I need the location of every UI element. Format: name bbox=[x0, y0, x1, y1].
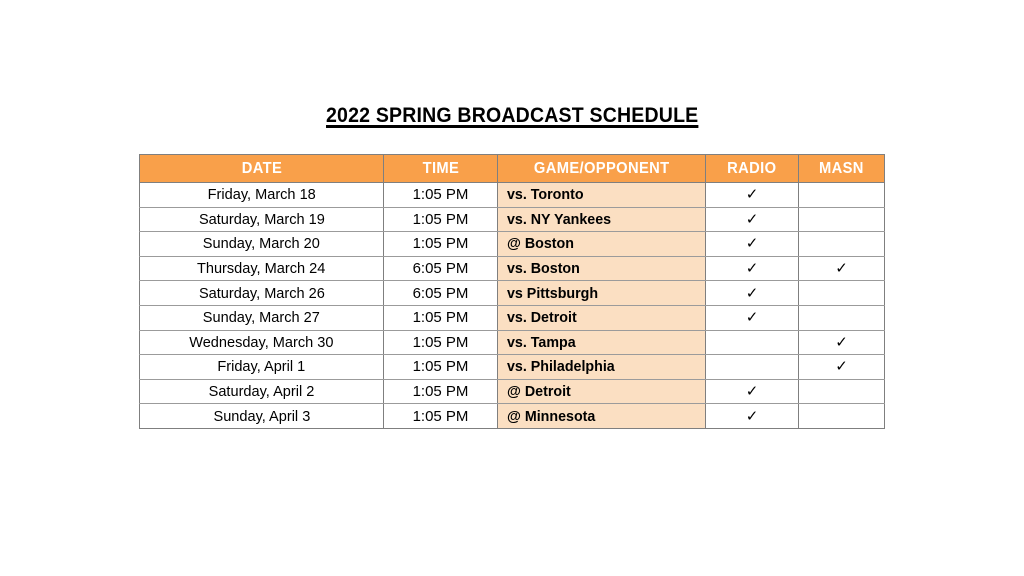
cell-masn bbox=[799, 281, 885, 306]
cell-date: Sunday, March 20 bbox=[140, 232, 384, 257]
check-icon-radio: ✓ bbox=[746, 185, 759, 203]
broadcast-schedule-table: DATE TIME GAME/OPPONENT RADIO MASN Frida… bbox=[139, 154, 885, 429]
table-row: Saturday, April 21:05 PM@ Detroit✓ bbox=[140, 379, 885, 404]
column-header-game-opponent: GAME/OPPONENT bbox=[498, 155, 706, 183]
cell-radio: ✓ bbox=[706, 256, 799, 281]
table-header: DATE TIME GAME/OPPONENT RADIO MASN bbox=[140, 155, 885, 183]
cell-date: Friday, March 18 bbox=[140, 183, 384, 208]
cell-game-opponent: vs. Tampa bbox=[498, 330, 706, 355]
cell-radio: ✓ bbox=[706, 183, 799, 208]
cell-time: 1:05 PM bbox=[384, 379, 498, 404]
table-row: Thursday, March 246:05 PMvs. Boston✓✓ bbox=[140, 256, 885, 281]
cell-radio: ✓ bbox=[706, 207, 799, 232]
cell-date: Sunday, March 27 bbox=[140, 305, 384, 330]
column-header-game-opponent-label: GAME/OPPONENT bbox=[534, 155, 670, 182]
table-row: Sunday, March 201:05 PM@ Boston✓ bbox=[140, 232, 885, 257]
cell-time: 1:05 PM bbox=[384, 232, 498, 257]
check-icon-radio: ✓ bbox=[746, 210, 759, 228]
cell-time: 1:05 PM bbox=[384, 355, 498, 380]
cell-time-text: 1:05 PM bbox=[413, 358, 469, 375]
title-container: 2022 SPRING BROADCAST SCHEDULE bbox=[0, 104, 1024, 128]
cell-game-opponent: @ Boston bbox=[498, 232, 706, 257]
cell-radio: ✓ bbox=[706, 305, 799, 330]
table-row: Friday, March 181:05 PMvs. Toronto✓ bbox=[140, 183, 885, 208]
table-row: Sunday, April 31:05 PM@ Minnesota✓ bbox=[140, 404, 885, 429]
cell-game-opponent-text: vs. NY Yankees bbox=[507, 211, 611, 228]
cell-game-opponent: vs. Boston bbox=[498, 256, 706, 281]
column-header-date-label: DATE bbox=[241, 155, 281, 182]
cell-time-text: 1:05 PM bbox=[413, 334, 469, 351]
cell-game-opponent: @ Minnesota bbox=[498, 404, 706, 429]
cell-game-opponent: vs. Detroit bbox=[498, 305, 706, 330]
cell-time-text: 6:05 PM bbox=[413, 285, 469, 302]
cell-time: 1:05 PM bbox=[384, 207, 498, 232]
cell-radio bbox=[706, 355, 799, 380]
cell-date: Friday, April 1 bbox=[140, 355, 384, 380]
check-icon-radio: ✓ bbox=[746, 407, 759, 425]
column-header-date: DATE bbox=[140, 155, 384, 183]
cell-date-text: Saturday, March 19 bbox=[199, 211, 325, 228]
cell-masn: ✓ bbox=[799, 256, 885, 281]
cell-date: Saturday, March 26 bbox=[140, 281, 384, 306]
cell-game-opponent-text: vs. Tampa bbox=[507, 334, 576, 351]
cell-masn bbox=[799, 232, 885, 257]
table-row: Saturday, March 191:05 PMvs. NY Yankees✓ bbox=[140, 207, 885, 232]
cell-game-opponent: vs Pittsburgh bbox=[498, 281, 706, 306]
table-row: Friday, April 11:05 PMvs. Philadelphia✓ bbox=[140, 355, 885, 380]
cell-time-text: 1:05 PM bbox=[413, 408, 469, 425]
cell-date: Thursday, March 24 bbox=[140, 256, 384, 281]
cell-game-opponent-text: vs. Toronto bbox=[507, 186, 584, 203]
table-row: Sunday, March 271:05 PMvs. Detroit✓ bbox=[140, 305, 885, 330]
cell-time-text: 6:05 PM bbox=[413, 260, 469, 277]
check-icon-radio: ✓ bbox=[746, 382, 759, 400]
cell-game-opponent-text: vs Pittsburgh bbox=[507, 285, 598, 302]
cell-date-text: Saturday, April 2 bbox=[209, 383, 315, 400]
table-row: Saturday, March 266:05 PMvs Pittsburgh✓ bbox=[140, 281, 885, 306]
cell-date-text: Thursday, March 24 bbox=[197, 260, 325, 277]
cell-game-opponent-text: @ Minnesota bbox=[507, 408, 595, 425]
cell-masn bbox=[799, 305, 885, 330]
cell-masn bbox=[799, 404, 885, 429]
cell-date-text: Sunday, March 27 bbox=[203, 309, 320, 326]
cell-date-text: Wednesday, March 30 bbox=[189, 334, 333, 351]
cell-radio: ✓ bbox=[706, 379, 799, 404]
cell-time: 6:05 PM bbox=[384, 281, 498, 306]
cell-masn: ✓ bbox=[799, 330, 885, 355]
cell-time-text: 1:05 PM bbox=[413, 383, 469, 400]
cell-game-opponent: @ Detroit bbox=[498, 379, 706, 404]
cell-date-text: Sunday, March 20 bbox=[203, 235, 320, 252]
cell-time: 1:05 PM bbox=[384, 305, 498, 330]
cell-time: 1:05 PM bbox=[384, 330, 498, 355]
check-icon-radio: ✓ bbox=[746, 308, 759, 326]
cell-game-opponent: vs. Toronto bbox=[498, 183, 706, 208]
cell-time: 1:05 PM bbox=[384, 183, 498, 208]
cell-time-text: 1:05 PM bbox=[413, 309, 469, 326]
cell-date: Sunday, April 3 bbox=[140, 404, 384, 429]
cell-game-opponent: vs. NY Yankees bbox=[498, 207, 706, 232]
column-header-radio-label: RADIO bbox=[727, 155, 776, 182]
cell-time-text: 1:05 PM bbox=[413, 235, 469, 252]
column-header-time-label: TIME bbox=[422, 155, 459, 182]
cell-masn bbox=[799, 379, 885, 404]
check-icon-masn: ✓ bbox=[835, 333, 848, 351]
cell-time-text: 1:05 PM bbox=[413, 186, 469, 203]
cell-time-text: 1:05 PM bbox=[413, 211, 469, 228]
column-header-masn-label: MASN bbox=[819, 155, 864, 182]
cell-date: Wednesday, March 30 bbox=[140, 330, 384, 355]
cell-date-text: Sunday, April 3 bbox=[213, 408, 310, 425]
cell-time: 1:05 PM bbox=[384, 404, 498, 429]
cell-radio: ✓ bbox=[706, 281, 799, 306]
column-header-masn: MASN bbox=[799, 155, 885, 183]
cell-game-opponent: vs. Philadelphia bbox=[498, 355, 706, 380]
check-icon-radio: ✓ bbox=[746, 284, 759, 302]
column-header-radio: RADIO bbox=[706, 155, 799, 183]
cell-date: Saturday, April 2 bbox=[140, 379, 384, 404]
check-icon-masn: ✓ bbox=[835, 259, 848, 277]
table-row: Wednesday, March 301:05 PMvs. Tampa✓ bbox=[140, 330, 885, 355]
cell-masn: ✓ bbox=[799, 355, 885, 380]
cell-game-opponent-text: @ Boston bbox=[507, 235, 574, 252]
cell-date-text: Friday, March 18 bbox=[207, 186, 315, 203]
check-icon-radio: ✓ bbox=[746, 234, 759, 252]
cell-masn bbox=[799, 207, 885, 232]
cell-date-text: Friday, April 1 bbox=[218, 358, 306, 375]
check-icon-masn: ✓ bbox=[835, 357, 848, 375]
cell-masn bbox=[799, 183, 885, 208]
table-header-row: DATE TIME GAME/OPPONENT RADIO MASN bbox=[140, 155, 885, 183]
cell-game-opponent-text: @ Detroit bbox=[507, 383, 571, 400]
cell-date: Saturday, March 19 bbox=[140, 207, 384, 232]
page-canvas: 2022 SPRING BROADCAST SCHEDULE DATE TIME… bbox=[0, 0, 1024, 576]
check-icon-radio: ✓ bbox=[746, 259, 759, 277]
cell-radio: ✓ bbox=[706, 232, 799, 257]
cell-date-text: Saturday, March 26 bbox=[199, 285, 325, 302]
table-body: Friday, March 181:05 PMvs. Toronto✓Satur… bbox=[140, 183, 885, 429]
schedule-table-container: DATE TIME GAME/OPPONENT RADIO MASN Frida… bbox=[139, 154, 884, 429]
cell-radio: ✓ bbox=[706, 404, 799, 429]
cell-time: 6:05 PM bbox=[384, 256, 498, 281]
page-title: 2022 SPRING BROADCAST SCHEDULE bbox=[326, 104, 698, 128]
column-header-time: TIME bbox=[384, 155, 498, 183]
cell-radio bbox=[706, 330, 799, 355]
cell-game-opponent-text: vs. Philadelphia bbox=[507, 358, 615, 375]
cell-game-opponent-text: vs. Boston bbox=[507, 260, 580, 277]
cell-game-opponent-text: vs. Detroit bbox=[507, 309, 577, 326]
